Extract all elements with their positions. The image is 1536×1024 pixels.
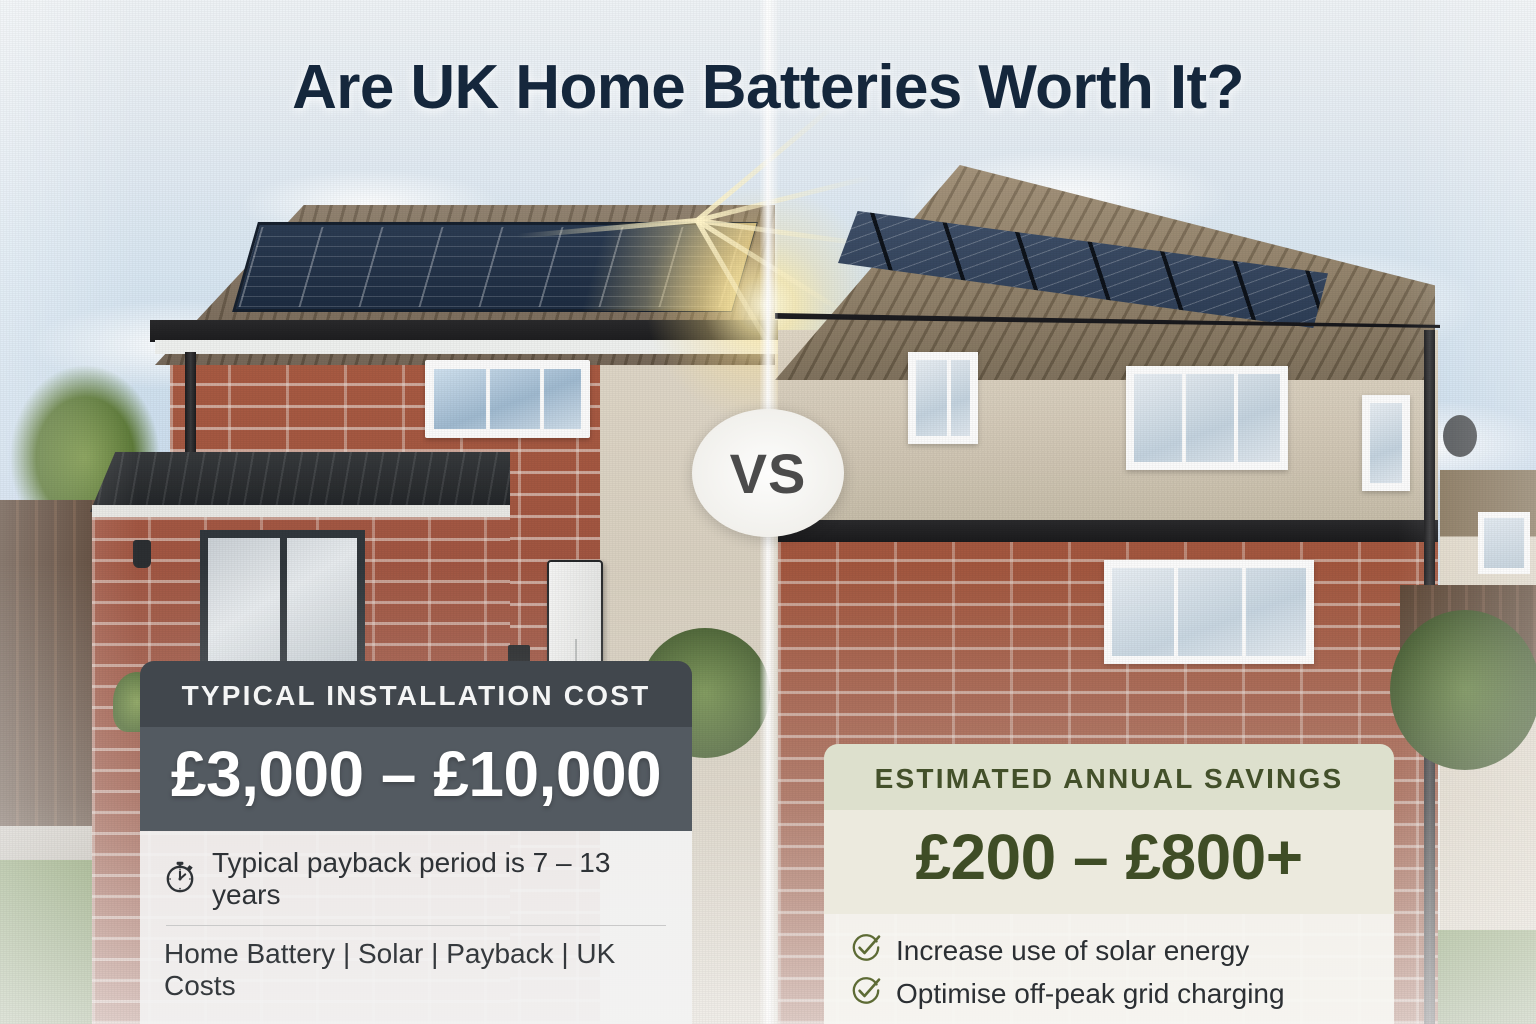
porch-roof-left xyxy=(90,452,510,512)
annual-savings-body: Increase use of solar energy Optimise of… xyxy=(824,914,1394,1024)
circle-check-icon xyxy=(850,932,882,969)
annual-savings-value: £200 – £800+ xyxy=(824,810,1394,914)
neighbour-window xyxy=(1478,512,1530,574)
window-right-2 xyxy=(1126,366,1288,470)
topic-tags: Home Battery | Solar | Payback | UK Cost… xyxy=(164,938,668,1012)
payback-period-row: Typical payback period is 7 – 13 years xyxy=(164,847,668,911)
garden-fence-left xyxy=(0,500,95,860)
installation-cost-value: £3,000 – £10,000 xyxy=(140,727,692,831)
annual-savings-card: ESTIMATED ANNUAL SAVINGS £200 – £800+ In… xyxy=(824,744,1394,1024)
window-right-3 xyxy=(1362,395,1410,491)
page-title: Are UK Home Batteries Worth It? xyxy=(0,52,1536,123)
wall-lamp-left xyxy=(133,540,151,568)
installation-cost-body: Typical payback period is 7 – 13 years H… xyxy=(140,831,692,1024)
versus-badge-label: VS xyxy=(730,441,807,506)
benefit-text: Increase use of solar energy xyxy=(896,935,1249,967)
roof-fascia-left xyxy=(150,320,778,342)
annual-savings-heading: ESTIMATED ANNUAL SAVINGS xyxy=(824,744,1394,810)
payback-period-text: Typical payback period is 7 – 13 years xyxy=(212,847,668,911)
window-right-4 xyxy=(1104,560,1314,664)
string-course-right xyxy=(778,520,1438,542)
upper-window-left xyxy=(425,360,590,438)
benefit-row: Optimise off-peak grid charging xyxy=(850,975,1368,1012)
roof-soffit-left xyxy=(155,340,778,354)
satellite-dish-icon xyxy=(1443,415,1477,457)
solar-panels-left xyxy=(232,222,758,312)
stopwatch-icon xyxy=(164,860,198,899)
benefit-text: Optimise off-peak grid charging xyxy=(896,978,1285,1010)
versus-badge: VS xyxy=(692,409,844,537)
installation-cost-heading: TYPICAL INSTALLATION COST xyxy=(140,661,692,727)
card-divider xyxy=(166,925,666,926)
infographic-canvas: Are UK Home Batteries Worth It? VS TYPIC… xyxy=(0,0,1536,1024)
benefit-row: Increase use of solar energy xyxy=(850,932,1368,969)
window-right-1 xyxy=(908,352,978,444)
installation-cost-card: TYPICAL INSTALLATION COST £3,000 – £10,0… xyxy=(140,661,692,1024)
hedge-right xyxy=(1390,610,1536,770)
circle-check-icon xyxy=(850,975,882,1012)
